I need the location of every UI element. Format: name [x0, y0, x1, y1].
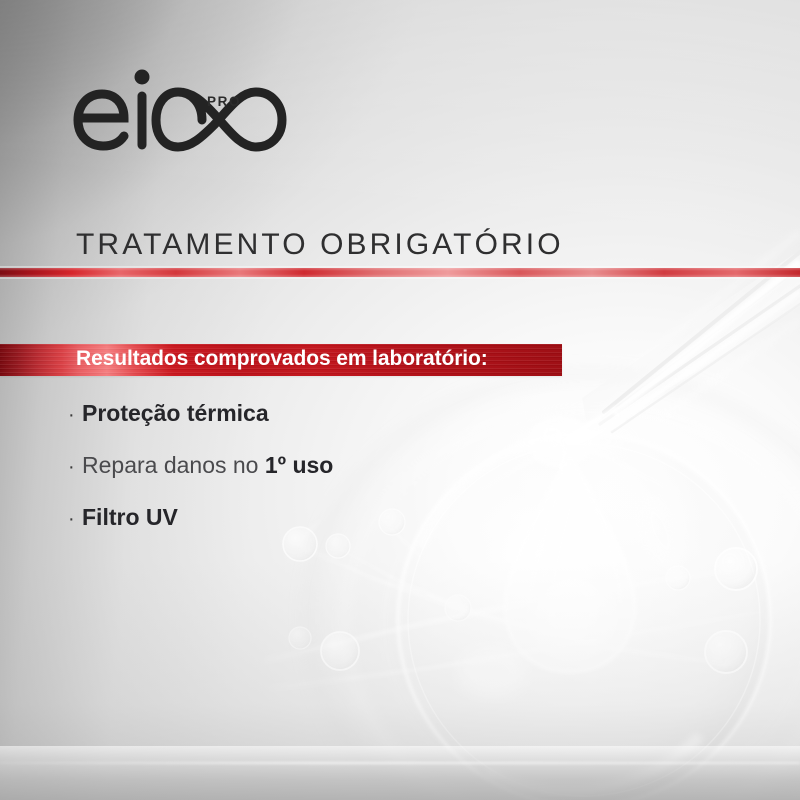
list-item: · Proteção térmica [68, 400, 528, 452]
benefit-label-thermal-protection: Proteção térmica [82, 400, 269, 427]
bullet-dot-icon: · [68, 405, 82, 425]
logo-i-dot [135, 70, 150, 85]
logo-pro-label: PRO [207, 94, 241, 109]
benefit-label-repair: Repara danos no 1º uso [82, 452, 333, 479]
results-banner-label: Resultados comprovados em laboratório: [76, 347, 488, 371]
brand-logo: PRO [72, 52, 332, 164]
benefit-repair-prefix: Repara danos no [82, 452, 265, 478]
benefits-list: · Proteção térmica · Repara danos no 1º … [68, 400, 528, 556]
eico-infinity-logo-icon [72, 52, 332, 164]
list-item: · Repara danos no 1º uso [68, 452, 528, 504]
bullet-dot-icon: · [68, 457, 82, 477]
benefit-repair-emphasis: 1º uso [265, 452, 333, 478]
bullet-dot-icon: · [68, 509, 82, 529]
benefit-label-uv-filter: Filtro UV [82, 504, 178, 531]
red-divider-sheen [0, 266, 800, 279]
page-title: TRATAMENTO OBRIGATÓRIO [76, 228, 564, 262]
list-item: · Filtro UV [68, 504, 528, 556]
product-banner: PRO TRATAMENTO OBRIGATÓRIO Resultados co… [0, 0, 800, 800]
